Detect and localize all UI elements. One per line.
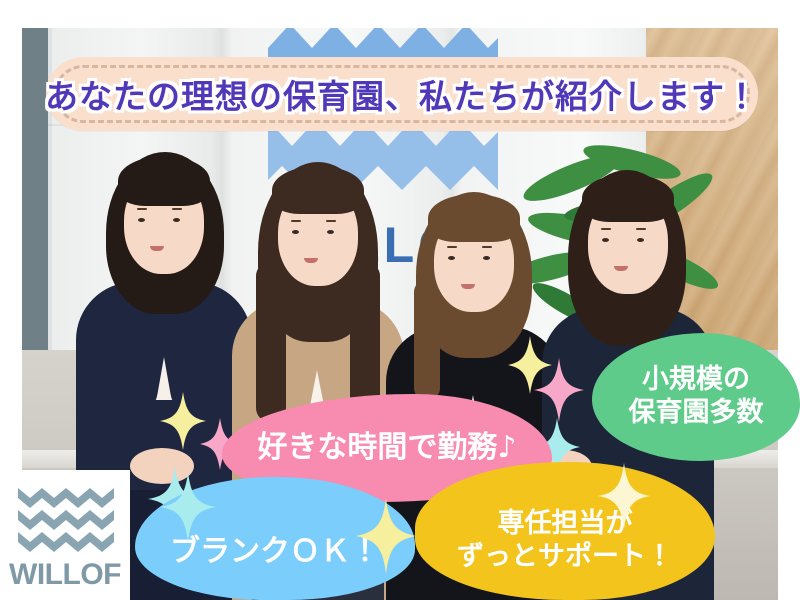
person-2-eye-right — [327, 230, 334, 234]
person-2-hair-long-left — [256, 262, 286, 422]
headline-banner: あなたの理想の保育園、私たちが紹介します！ — [46, 57, 758, 131]
willof-zigzag-icon — [18, 484, 114, 554]
person-3-eye-right — [483, 256, 490, 260]
bubble-small-nurseries-text: 小規模の 保育園多数 — [629, 364, 764, 430]
sparkle-5-icon — [534, 358, 584, 422]
sparkle-9-icon — [160, 472, 216, 542]
sparkle-8-icon — [598, 463, 650, 529]
person-1-eye-right — [173, 218, 180, 222]
person-3-fringe — [428, 194, 520, 242]
advertisement-banner: WILLOF — [0, 0, 800, 600]
person-4-fringe — [582, 174, 674, 222]
sparkle-7-icon — [356, 498, 416, 574]
person-3-hair-side — [414, 280, 440, 400]
person-1-eye-left — [138, 218, 145, 222]
person-2-eye-left — [292, 230, 299, 234]
person-3-brow-right — [482, 246, 492, 248]
person-4-eye-right — [637, 238, 644, 242]
person-2-brow-left — [291, 220, 301, 222]
bubble-dedicated-support-line2: ずっとサポート！ — [457, 541, 673, 574]
headline-text: あなたの理想の保育園、私たちが紹介します！ — [46, 57, 758, 131]
willof-logo-card: WILLOF — [0, 470, 130, 600]
person-3-brow-left — [447, 246, 457, 248]
bubble-flexible-hours-text: 好きな時間で勤務♪ — [257, 430, 516, 467]
bubble-small-nurseries: 小規模の 保育園多数 — [592, 333, 800, 461]
person-1-brow-right — [172, 208, 182, 210]
bubble-small-nurseries-line1: 小規模の — [629, 364, 764, 397]
willof-logo-text: WILLOF — [0, 558, 130, 592]
person-4-brow-left — [601, 228, 611, 230]
person-2-fringe — [272, 166, 364, 214]
bubble-dedicated-support: 専任担当が ずっとサポート！ — [415, 462, 715, 600]
person-2-brow-right — [326, 220, 336, 222]
person-1-fringe — [118, 156, 210, 206]
person-1-brow-left — [137, 208, 147, 210]
person-3-eye-left — [448, 256, 455, 260]
person-4-brow-right — [636, 228, 646, 230]
person-4-eye-left — [602, 238, 609, 242]
bubble-small-nurseries-line2: 保育園多数 — [629, 397, 764, 430]
